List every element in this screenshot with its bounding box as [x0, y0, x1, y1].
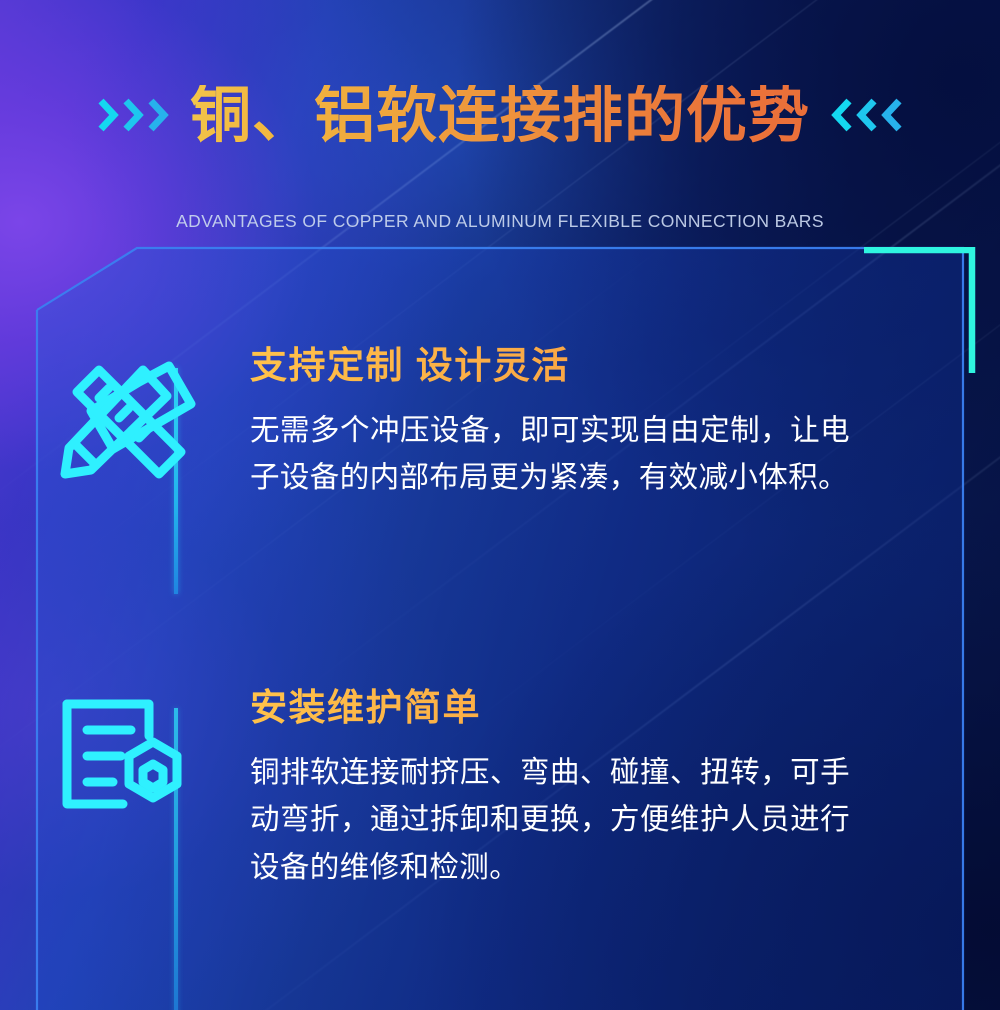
title-row: 铜、铝软连接排的优势 [0, 0, 1000, 187]
page-title: 铜、铝软连接排的优势 [190, 85, 810, 146]
feature-icon-column [0, 688, 250, 892]
feature-text-column: 支持定制 设计灵活 无需多个冲压设备，即可实现自由定制，让电子设备的内部布局更为… [250, 346, 1000, 502]
feature-text-column: 安装维护简单 铜排软连接耐挤压、弯曲、碰撞、扭转，可手动弯折，通过拆卸和更换，方… [250, 688, 1000, 892]
feature-heading: 支持定制 设计灵活 [250, 346, 936, 387]
feature-body: 铜排软连接耐挤压、弯曲、碰撞、扭转，可手动弯折，通过拆卸和更换，方便维护人员进行… [250, 749, 850, 892]
feature-body: 无需多个冲压设备，即可实现自由定制，让电子设备的内部布局更为紧凑，有效减小体积。 [250, 407, 850, 503]
page-subtitle: ADVANTAGES OF COPPER AND ALUMINUM FLEXIB… [0, 211, 1000, 232]
header: 铜、铝软连接排的优势 ADVANTAGES OF COPPER AND ALUM… [0, 0, 1000, 215]
feature-item: 支持定制 设计灵活 无需多个冲压设备，即可实现自由定制，让电子设备的内部布局更为… [0, 346, 1000, 502]
feature-heading: 安装维护简单 [250, 688, 936, 729]
feature-item: 安装维护简单 铜排软连接耐挤压、弯曲、碰撞、扭转，可手动弯折，通过拆卸和更换，方… [0, 688, 1000, 892]
pencil-ruler-icon [51, 352, 199, 502]
chevrons-right-icon [98, 98, 170, 132]
poster-root: 铜、铝软连接排的优势 ADVANTAGES OF COPPER AND ALUM… [0, 0, 1000, 1010]
document-hexnut-icon [57, 694, 193, 892]
feature-icon-column [0, 346, 250, 502]
chevrons-left-icon [830, 98, 902, 132]
